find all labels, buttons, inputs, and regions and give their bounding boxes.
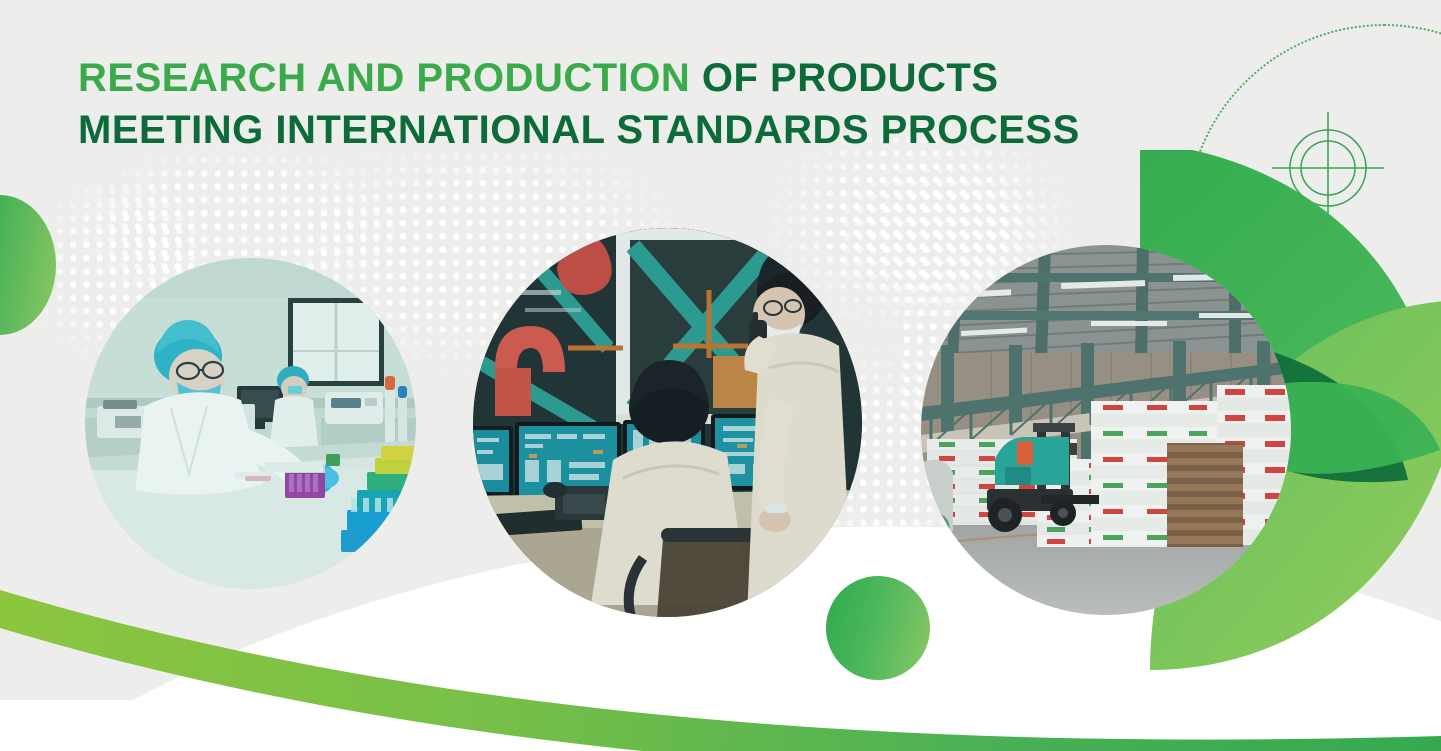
title-highlight: RESEARCH AND PRODUCTION <box>78 56 690 100</box>
banner-root: RESEARCH AND PRODUCTION OF PRODUCTS MEET… <box>0 0 1441 751</box>
title-line-1: RESEARCH AND PRODUCTION OF PRODUCTS <box>78 58 1080 98</box>
title-line1-rest: OF PRODUCTS <box>690 56 998 100</box>
bottom-wave-graphic <box>0 540 1441 751</box>
page-title: RESEARCH AND PRODUCTION OF PRODUCTS MEET… <box>78 58 1080 162</box>
title-line-2: MEETING INTERNATIONAL STANDARDS PROCESS <box>78 110 1080 150</box>
